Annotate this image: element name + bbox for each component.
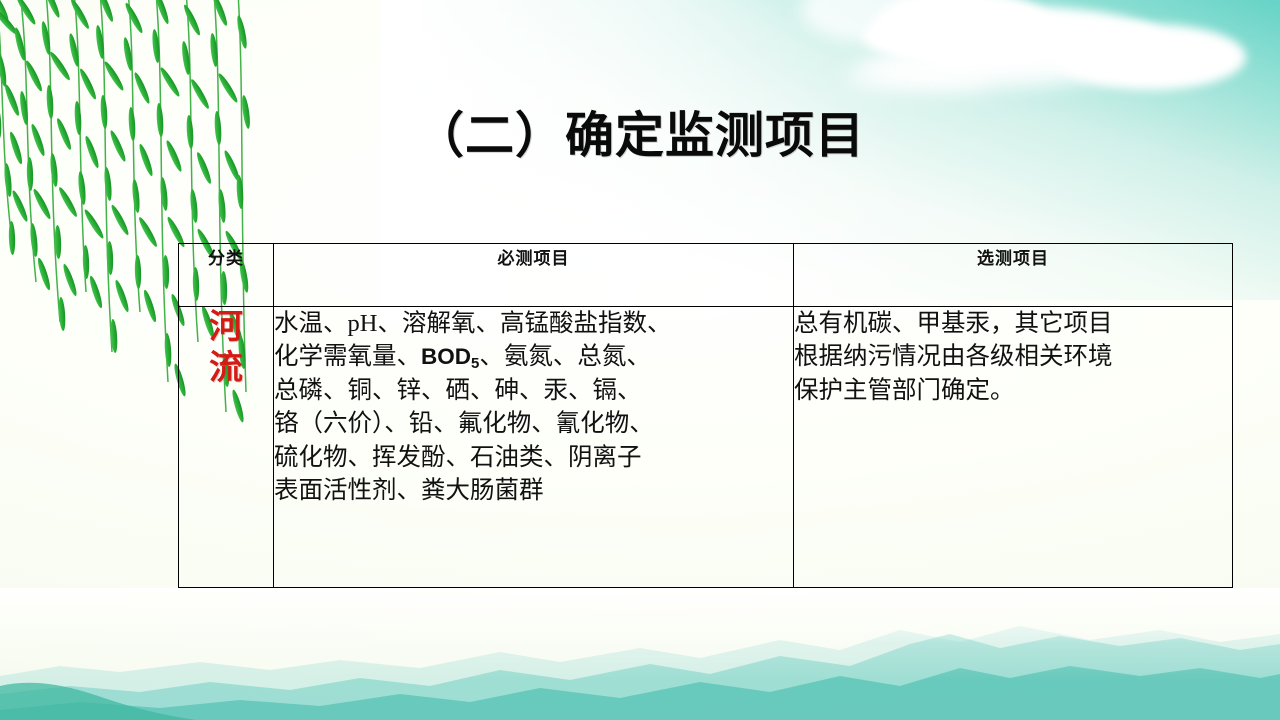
mountain-silhouette — [0, 590, 1280, 720]
slide-canvas: （二）确定监测项目 分类 必测项目 选测项目 河流 水温、pH、溶解氧、高锰酸盐… — [0, 0, 1280, 720]
cloud-icon — [844, 62, 994, 92]
cell-optional-items: 总有机碳、甲基汞，其它项目 根据纳污情况由各级相关环境 保护主管部门确定。 — [794, 307, 1233, 588]
optional-items-text: 总有机碳、甲基汞，其它项目 根据纳污情况由各级相关环境 保护主管部门确定。 — [794, 307, 1232, 407]
cell-required-items: 水温、pH、溶解氧、高锰酸盐指数、 化学需氧量、BOD5、氨氮、总氮、 总磷、铜… — [274, 307, 794, 588]
table-header-row: 分类 必测项目 选测项目 — [179, 244, 1233, 307]
column-header-required-items: 必测项目 — [274, 244, 794, 307]
column-header-category: 分类 — [179, 244, 274, 307]
cell-category: 河流 — [179, 307, 274, 588]
column-header-optional-items: 选测项目 — [794, 244, 1233, 307]
category-label-river: 河流 — [209, 307, 243, 390]
required-items-text: 水温、pH、溶解氧、高锰酸盐指数、 化学需氧量、BOD5、氨氮、总氮、 总磷、铜… — [274, 307, 793, 508]
monitoring-items-table: 分类 必测项目 选测项目 河流 水温、pH、溶解氧、高锰酸盐指数、 化学需氧量、… — [178, 243, 1233, 588]
table-row: 河流 水温、pH、溶解氧、高锰酸盐指数、 化学需氧量、BOD5、氨氮、总氮、 总… — [179, 307, 1233, 588]
page-title: （二）确定监测项目 — [0, 96, 1280, 167]
